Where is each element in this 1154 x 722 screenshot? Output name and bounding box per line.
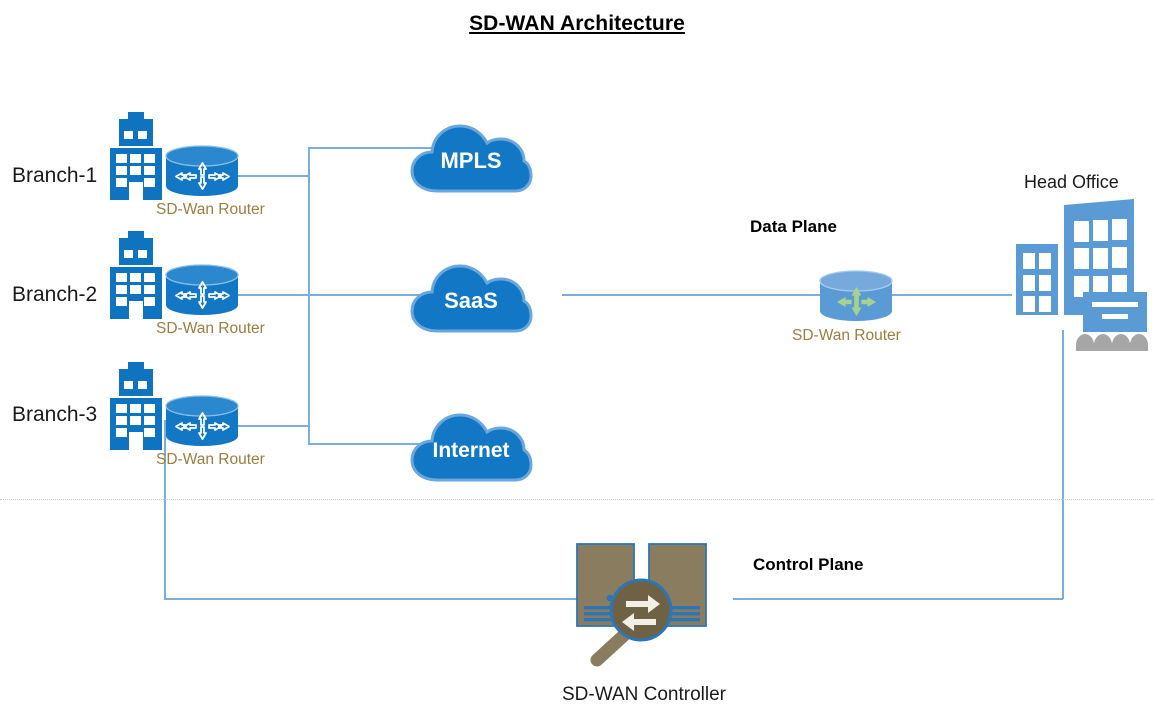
cloud-saas-label: SaaS: [444, 288, 498, 313]
branch-building-icon-2: [105, 231, 167, 319]
branch-label-2: Branch-2: [12, 283, 97, 307]
router-label-2: SD-Wan Router: [156, 320, 265, 338]
data-plane-label: Data Plane: [750, 217, 837, 237]
connector-bus-to-saas: [308, 294, 423, 296]
sd-wan-controller-icon[interactable]: [570, 540, 740, 680]
plane-divider: [0, 499, 1154, 501]
cloud-mpls[interactable]: MPLS: [408, 113, 533, 195]
branch-building-icon-3: [105, 362, 167, 450]
branch-label-1: Branch-1: [12, 164, 97, 188]
cloud-saas[interactable]: SaaS: [408, 253, 533, 335]
router-label-3: SD-Wan Router: [156, 451, 265, 469]
connector-saas-to-ho-router: [562, 294, 820, 296]
cloud-internet[interactable]: Internet: [408, 402, 533, 484]
sd-wan-router-icon-head-office: [820, 271, 892, 321]
connector-branch2-to-bus: [237, 294, 309, 296]
connector-vertical-bus: [308, 147, 310, 445]
head-office-building-icon: [1006, 197, 1154, 352]
branch-label-3: Branch-3: [12, 403, 97, 427]
sd-wan-router-icon-2: [166, 265, 238, 315]
connector-control-right-up-to-head-office: [1062, 330, 1064, 599]
connector-branch3-to-bus: [237, 425, 309, 427]
head-office-label: Head Office: [1024, 172, 1119, 193]
sd-wan-router-icon-1: [166, 146, 238, 196]
page-title: SD-WAN Architecture: [0, 12, 1154, 36]
cloud-internet-label: Internet: [432, 439, 509, 462]
connector-branch1-to-bus: [237, 175, 309, 177]
connector-control-left-to-controller: [164, 598, 580, 600]
connector-ho-router-to-head-office: [890, 294, 1012, 296]
connector-controller-to-control-right: [733, 598, 1063, 600]
router-label-head-office: SD-Wan Router: [792, 327, 901, 345]
branch-building-icon-1: [105, 112, 167, 200]
cloud-mpls-label: MPLS: [440, 148, 501, 173]
sd-wan-router-icon-3: [166, 396, 238, 446]
diagram-canvas: SD-WAN Architecture Branch-1: [0, 0, 1154, 722]
sd-wan-controller-label: SD-WAN Controller: [562, 684, 726, 706]
router-label-1: SD-Wan Router: [156, 201, 265, 219]
control-plane-label: Control Plane: [753, 555, 864, 575]
